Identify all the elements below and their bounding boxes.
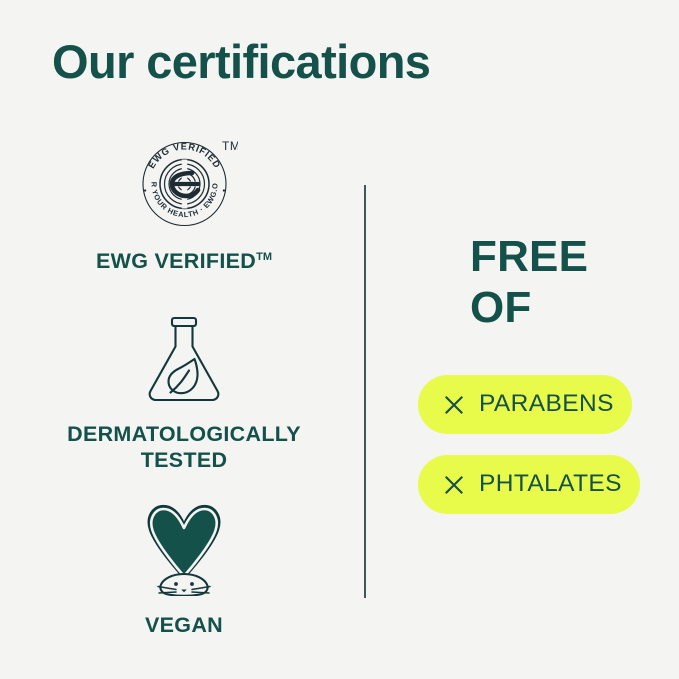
svg-text:TM: TM	[222, 139, 238, 153]
certification-item-ewg-verified: EWG VERIFIED FOR YOUR HEALTH · EWG.ORG	[14, 128, 354, 274]
page-title: Our certifications	[52, 36, 430, 88]
ewg-verified-seal-icon: EWG VERIFIED FOR YOUR HEALTH · EWG.ORG	[130, 128, 238, 237]
certification-label-text: EWG VERIFIED	[96, 249, 256, 273]
free-of-item-label: PHTALATES	[479, 472, 622, 497]
free-of-item-label: PARABENS	[479, 392, 614, 417]
flask-leaf-icon	[141, 313, 227, 410]
free-of-item-phtalates[interactable]: PHTALATES	[418, 455, 640, 514]
certifications-panel: Our certifications EWG VERIFIED	[0, 0, 679, 679]
free-of-item-parabens[interactable]: PARABENS	[418, 375, 632, 434]
vertical-divider	[364, 185, 366, 598]
certification-item-dermatologically-tested: DERMATOLOGICALLY TESTED	[14, 313, 354, 473]
rabbit-heart-ears-icon	[134, 500, 234, 601]
x-icon	[444, 475, 464, 495]
certification-label-vegan: VEGAN	[145, 612, 223, 638]
certification-item-vegan: VEGAN	[14, 500, 354, 638]
certification-label-ewg-verified: EWG VERIFIEDTM	[96, 248, 272, 274]
trademark-mark: TM	[256, 251, 272, 263]
certification-list: EWG VERIFIED FOR YOUR HEALTH · EWG.ORG	[14, 128, 354, 638]
certification-label-dermatologically-tested: DERMATOLOGICALLY TESTED	[67, 421, 301, 473]
free-of-heading: FREE OF	[470, 232, 670, 333]
free-of-panel: FREE OF	[470, 232, 670, 333]
x-icon	[444, 395, 464, 415]
free-of-list: PARABENS PHTALATES	[418, 375, 658, 535]
